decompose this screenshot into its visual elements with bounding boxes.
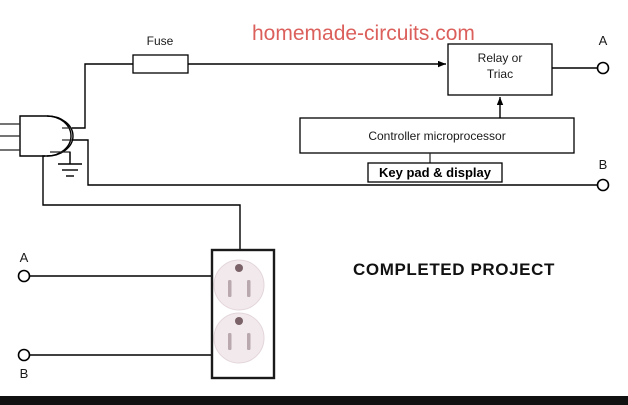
keypad-label: Key pad & display [379,165,492,180]
terminal-left-a-label: A [20,250,29,265]
circuit-diagram-canvas: Fuse Relay or Triac Controller microproc… [0,0,628,405]
outlet-socket-top [214,260,264,310]
terminal-left-b-label: B [20,366,29,381]
watermark-text: homemade-circuits.com [252,22,475,45]
terminal-right-b: B [598,157,609,191]
key-pad-and-display-block: Key pad & display [368,163,502,182]
duplex-outlet [212,250,274,378]
fuse-label: Fuse [147,34,174,48]
relay-or-triac-block: Relay or Triac [448,44,597,118]
terminal-right-b-label: B [599,157,608,172]
controller-microprocessor-block: Controller microprocessor [300,118,574,163]
terminal-right-a: A [598,33,609,74]
circuit-schematic: Fuse Relay or Triac Controller microproc… [0,0,628,405]
terminal-left-a: A [19,250,213,282]
relay-label-line1: Relay or [478,51,523,65]
terminal-right-a-label: A [599,33,608,48]
fuse-component: Fuse [133,34,188,73]
outlet-socket-bottom [214,313,264,363]
relay-label-line2: Triac [487,67,513,81]
ac-plug [0,116,73,160]
diagram-title: COMPLETED PROJECT [353,260,555,279]
earth-ground-icon [58,152,82,176]
terminal-left-b: B [19,350,213,382]
bottom-border [0,396,628,405]
controller-label: Controller microprocessor [368,129,505,143]
